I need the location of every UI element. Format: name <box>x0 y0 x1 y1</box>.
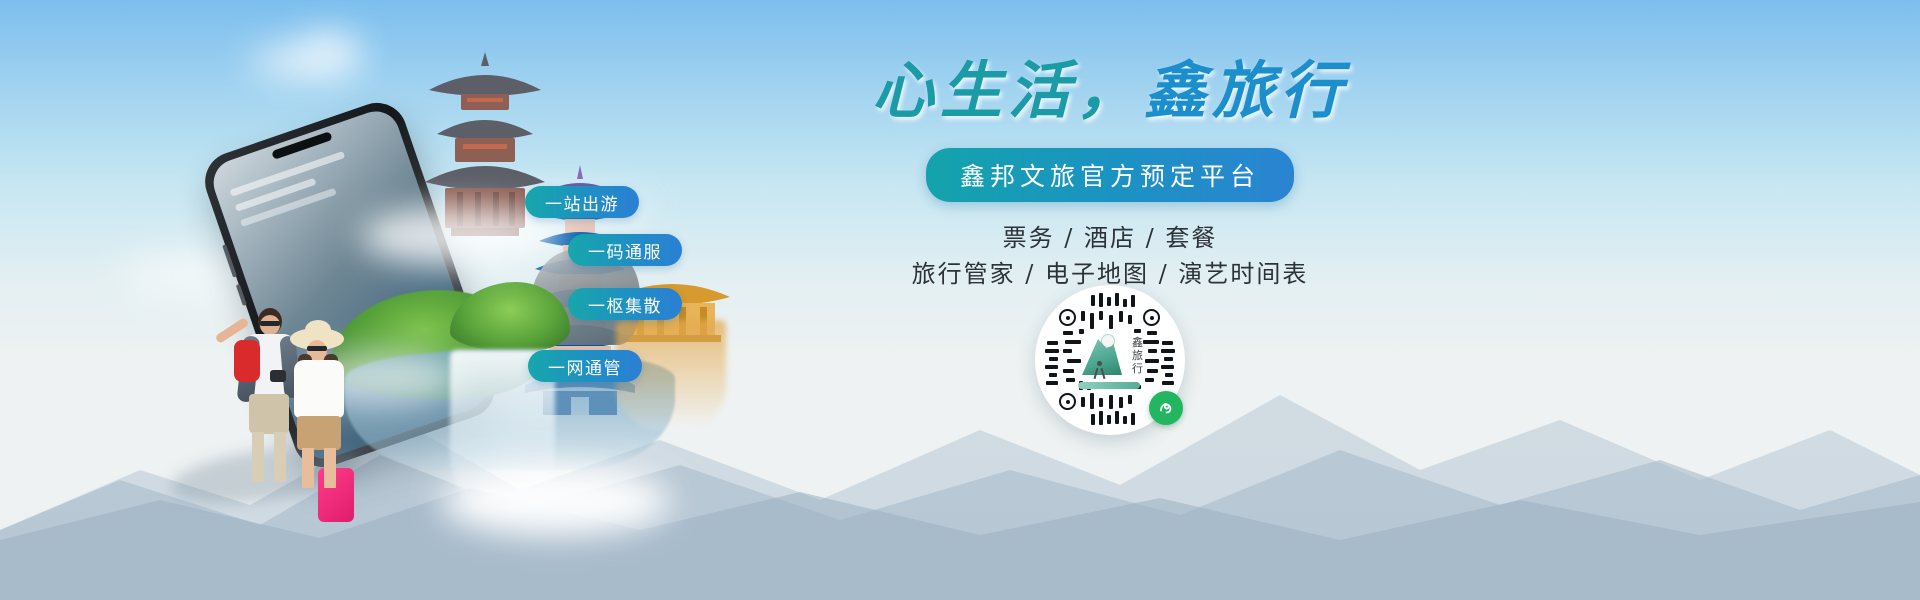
page-title: 心生活，鑫旅行 <box>800 60 1420 122</box>
platform-badge-label: 鑫邦文旅官方预定平台 <box>960 163 1260 191</box>
travel-promo-banner: 一站出游 一码通服 一枢集散 一网通管 心生活，鑫旅行 鑫邦文旅官方预定平台 票… <box>0 0 1920 600</box>
feature-pill-4[interactable]: 一网通管 <box>528 350 642 382</box>
qr-brand-logo: 鑫旅行 <box>1078 331 1142 389</box>
platform-badge[interactable]: 鑫邦文旅官方预定平台 <box>926 148 1294 202</box>
qr-code[interactable]: 鑫旅行 <box>1035 285 1185 435</box>
headline-comma: ， <box>1076 54 1144 127</box>
feature-pill-label: 一站出游 <box>545 190 619 215</box>
headline-part-2: 鑫旅行 <box>1144 54 1348 127</box>
wechat-miniprogram-icon[interactable] <box>1149 391 1183 425</box>
service-line-1: 票务 / 酒店 / 套餐 <box>800 220 1420 256</box>
feature-pill-3[interactable]: 一枢集散 <box>568 288 682 320</box>
promo-text-block: 心生活，鑫旅行 鑫邦文旅官方预定平台 票务 / 酒店 / 套餐 旅行管家 / 电… <box>800 60 1420 292</box>
feature-pill-label: 一网通管 <box>548 354 622 379</box>
feature-pill-1[interactable]: 一站出游 <box>525 186 639 218</box>
qr-brand-text: 鑫旅行 <box>1131 337 1144 376</box>
headline-part-1: 心生活 <box>872 54 1076 127</box>
service-list: 票务 / 酒店 / 套餐 旅行管家 / 电子地图 / 演艺时间表 <box>800 220 1420 292</box>
feature-pill-2[interactable]: 一码通服 <box>568 234 682 266</box>
feature-pill-label: 一枢集散 <box>588 292 662 317</box>
feature-pill-label: 一码通服 <box>588 238 662 263</box>
